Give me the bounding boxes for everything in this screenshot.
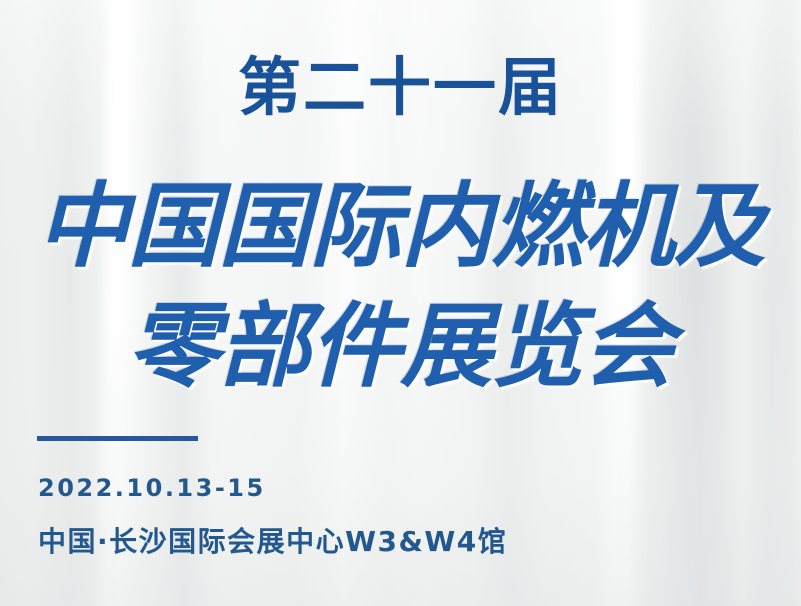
title-line-2: 零部件展览会 bbox=[0, 298, 801, 396]
poster-title: 中国国际内燃机及 零部件展览会 bbox=[0, 178, 801, 395]
title-line-1: 中国国际内燃机及 bbox=[0, 178, 801, 276]
event-date: 2022.10.13-15 bbox=[38, 474, 266, 502]
event-venue: 中国·长沙国际会展中心W3&W4馆 bbox=[38, 520, 507, 560]
exhibition-poster: 第二十一届 中国国际内燃机及 零部件展览会 2022.10.13-15 中国·长… bbox=[0, 0, 801, 606]
poster-content: 第二十一届 中国国际内燃机及 零部件展览会 2022.10.13-15 中国·长… bbox=[0, 0, 801, 606]
edition-kicker: 第二十一届 bbox=[0, 56, 801, 119]
divider-rule bbox=[37, 436, 198, 441]
